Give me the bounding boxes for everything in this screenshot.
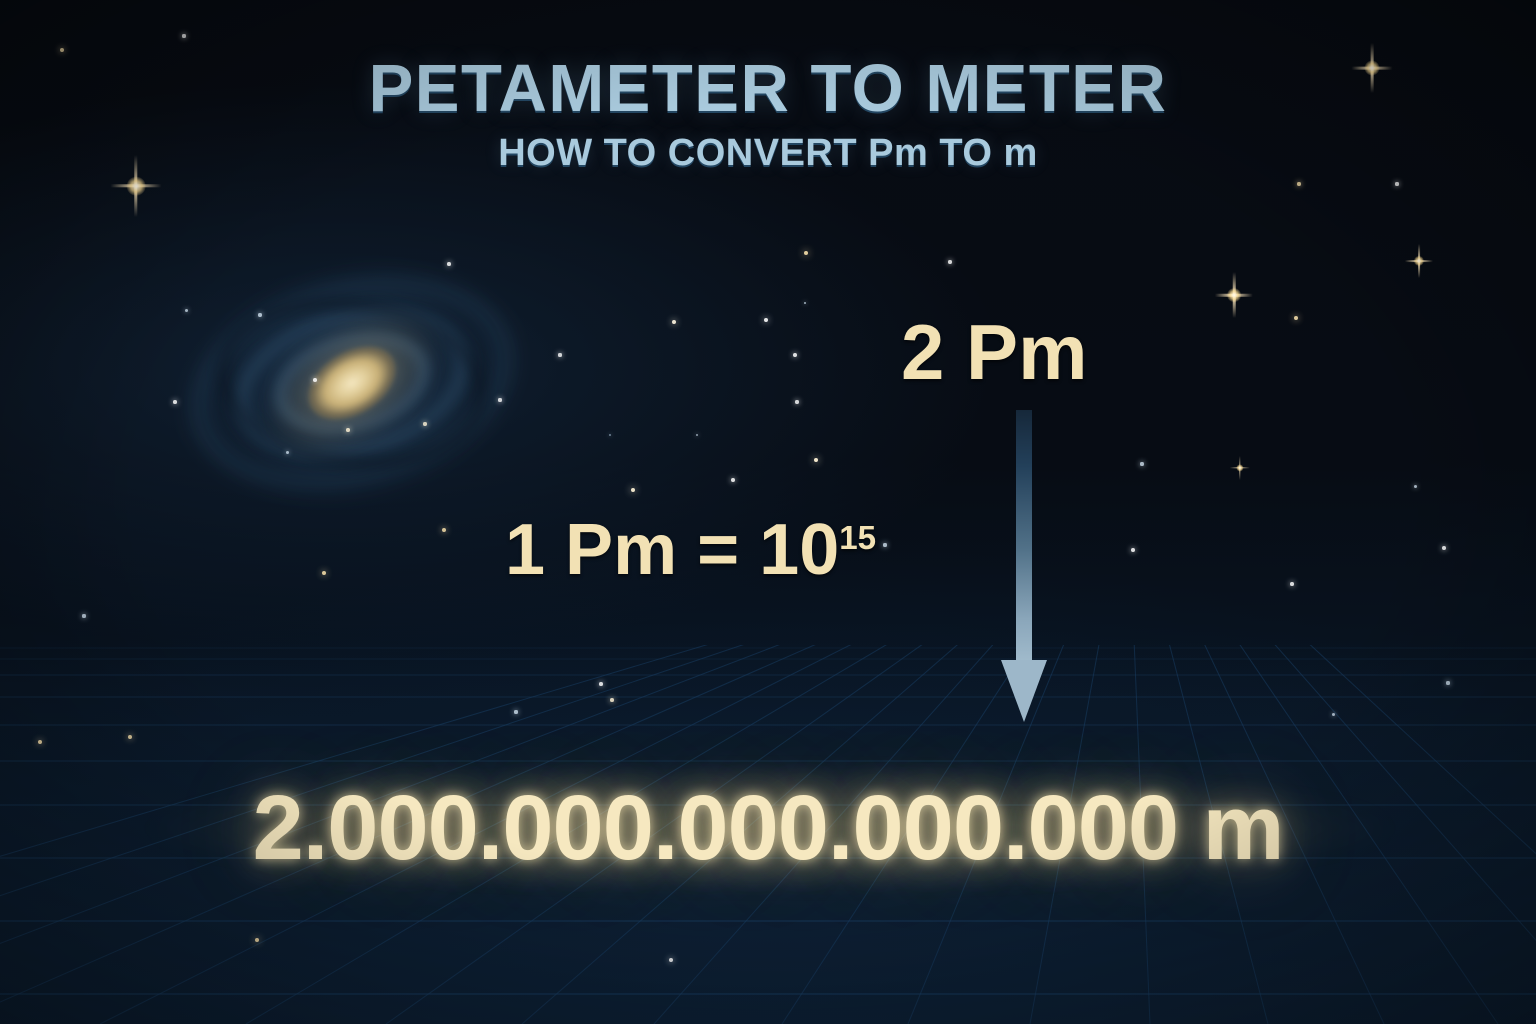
star-dot: [948, 260, 951, 263]
star-dot: [346, 428, 350, 432]
star-dot: [182, 34, 185, 37]
input-value-label: 2 Pm: [901, 313, 1087, 391]
conversion-rule-base: 1 Pm = 10: [505, 510, 839, 590]
star-dot: [610, 698, 614, 702]
star-dot: [185, 309, 188, 312]
star-dot: [313, 378, 317, 382]
star-dot: [1140, 462, 1143, 465]
conversion-rule: 1 Pm = 1015: [505, 514, 876, 586]
star-dot: [1446, 681, 1449, 684]
star-dot: [442, 528, 446, 532]
sparkle-star-icon: [1402, 244, 1436, 278]
star-dot: [1332, 713, 1335, 716]
star-dot: [795, 400, 798, 403]
sparkle-star-icon: [1228, 456, 1252, 480]
star-dot: [883, 543, 886, 546]
conversion-rule-exponent: 15: [839, 520, 876, 557]
star-dot: [82, 614, 85, 617]
star-dot: [173, 400, 177, 404]
star-dot: [558, 353, 561, 356]
star-dot: [128, 735, 132, 739]
sparkle-star-icon: [1211, 272, 1257, 318]
star-dot: [793, 353, 797, 357]
sparkle-star-icon: [105, 155, 167, 217]
star-dot: [731, 478, 735, 482]
infographic-canvas: PETAMETER TO METER HOW TO CONVERT Pm TO …: [0, 0, 1536, 1024]
star-dot: [1131, 548, 1135, 552]
star-dot: [599, 682, 603, 686]
star-dot: [1414, 485, 1417, 488]
star-dot: [1297, 182, 1300, 185]
star-dot: [447, 262, 451, 266]
star-dot: [286, 451, 289, 454]
star-dot: [1290, 582, 1294, 586]
result-value: 2.000.000.000.000.000 m: [0, 776, 1536, 881]
star-dot: [514, 710, 517, 713]
star-dot: [423, 422, 426, 425]
star-dot: [60, 48, 64, 52]
star-dot: [669, 958, 673, 962]
star-dot: [1442, 546, 1446, 550]
star-dot: [1395, 182, 1398, 185]
down-arrow-icon: [994, 410, 1054, 730]
sparkle-star-icon: [1347, 43, 1397, 93]
star-dot: [498, 398, 501, 401]
star-dot: [258, 313, 261, 316]
